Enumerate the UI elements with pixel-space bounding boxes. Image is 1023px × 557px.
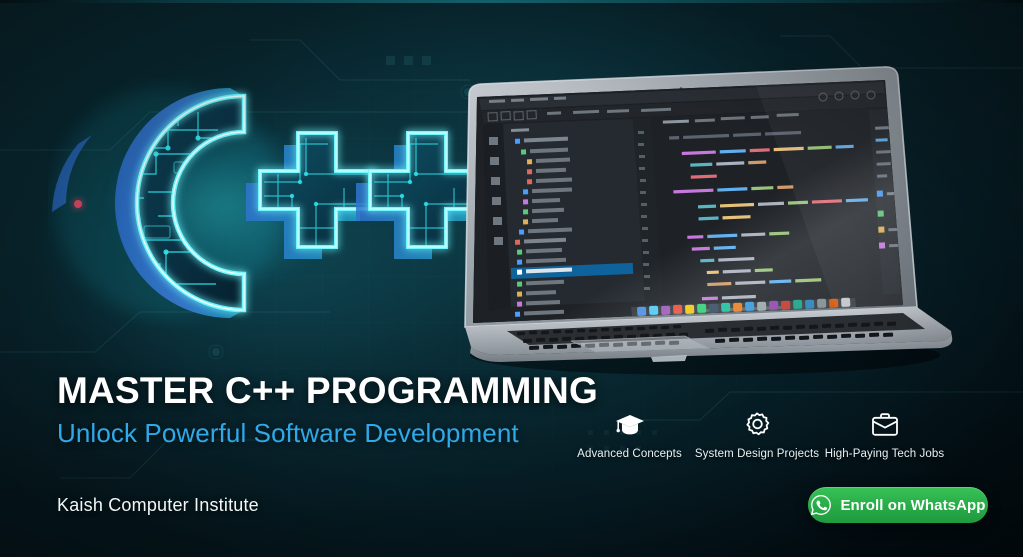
laptop-svg (455, 55, 955, 375)
laptop-image (455, 55, 955, 375)
feature-item-high-paying-tech-jobs: High-Paying Tech Jobs (822, 409, 947, 460)
enroll-whatsapp-button[interactable]: Enroll on WhatsApp (808, 487, 988, 523)
feature-item-system-design-projects: System Design Projects (695, 409, 820, 460)
promo-banner: MASTER C++ PROGRAMMING Unlock Powerful S… (0, 0, 1023, 557)
feature-label: System Design Projects (695, 448, 819, 460)
feature-list: Advanced Concepts System Design Projects (567, 409, 947, 460)
feature-label: Advanced Concepts (577, 448, 682, 460)
brand-name: Kaish Computer Institute (57, 495, 259, 516)
page-subtitle: Unlock Powerful Software Development (57, 418, 598, 449)
whatsapp-icon (810, 494, 832, 516)
page-title: MASTER C++ PROGRAMMING (57, 372, 598, 411)
feature-item-advanced-concepts: Advanced Concepts (567, 409, 692, 460)
feature-label: High-Paying Tech Jobs (825, 448, 945, 460)
enroll-whatsapp-label: Enroll on WhatsApp (840, 497, 985, 514)
cpp-logo (48, 78, 488, 328)
headline-block: MASTER C++ PROGRAMMING Unlock Powerful S… (57, 372, 598, 449)
cpp-logo-svg (48, 78, 488, 328)
briefcase-icon (870, 409, 900, 441)
gear-icon (743, 409, 771, 441)
top-accent-line (0, 0, 1023, 3)
graduation-cap-icon (615, 409, 645, 441)
